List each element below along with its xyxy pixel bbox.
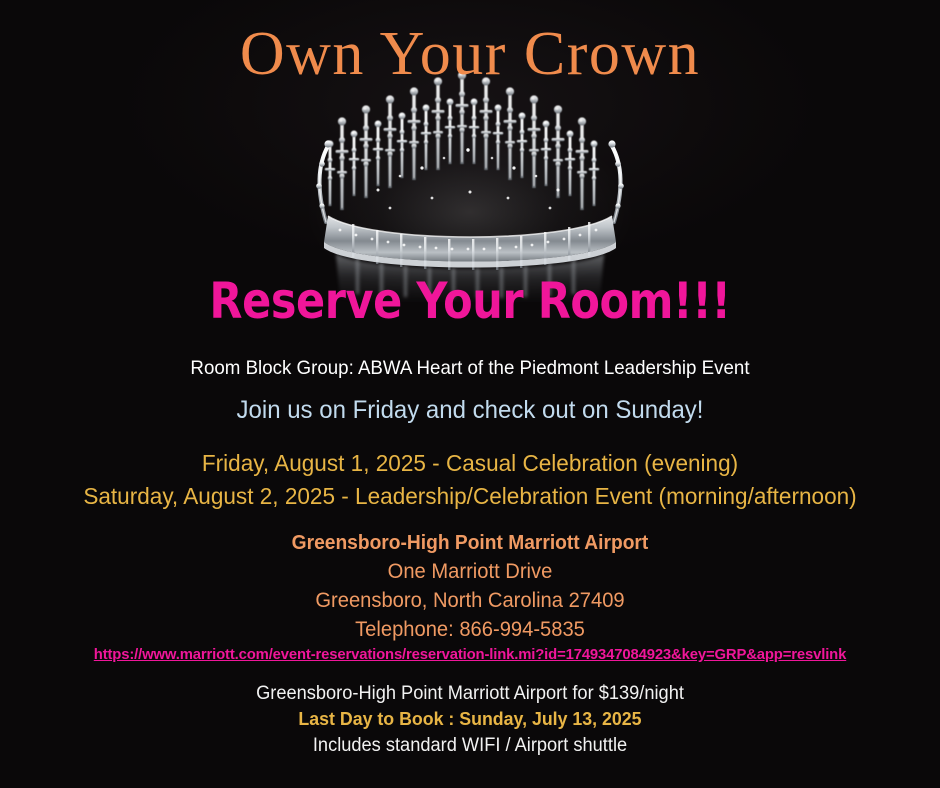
event-schedule: Friday, August 1, 2025 - Casual Celebrat… — [0, 452, 940, 517]
page-title: Own Your Crown — [0, 22, 940, 87]
schedule-item-friday: Friday, August 1, 2025 - Casual Celebrat… — [19, 452, 921, 485]
footer-deadline-line: Last Day to Book : Sunday, July 13, 2025 — [19, 710, 921, 736]
footer-includes-line: Includes standard WIFI / Airport shuttle — [19, 736, 921, 762]
venue-name: Greensboro-High Point Marriott Airport — [19, 533, 921, 561]
schedule-item-saturday: Saturday, August 2, 2025 - Leadership/Ce… — [19, 485, 921, 518]
reservation-link[interactable]: https://www.marriott.com/event-reservati… — [5, 647, 936, 662]
venue-telephone: Telephone: 866-994-5835 — [19, 619, 921, 648]
footer-rate-line: Greensboro-High Point Marriott Airport f… — [19, 684, 921, 710]
footer-details: Greensboro-High Point Marriott Airport f… — [0, 684, 940, 762]
flyer-poster: Own Your Crown Reserve Your Room!!! Room… — [0, 0, 940, 788]
venue-city-state-zip: Greensboro, North Carolina 27409 — [19, 590, 921, 619]
venue-street: One Marriott Drive — [19, 561, 921, 590]
join-us-line: Join us on Friday and check out on Sunda… — [19, 398, 921, 423]
headline-reserve-your-room: Reserve Your Room!!! — [66, 276, 874, 326]
poster-content: Own Your Crown Reserve Your Room!!! Room… — [0, 0, 940, 788]
venue-address-block: Greensboro-High Point Marriott Airport O… — [0, 533, 940, 648]
room-block-group-line: Room Block Group: ABWA Heart of the Pied… — [19, 359, 921, 379]
